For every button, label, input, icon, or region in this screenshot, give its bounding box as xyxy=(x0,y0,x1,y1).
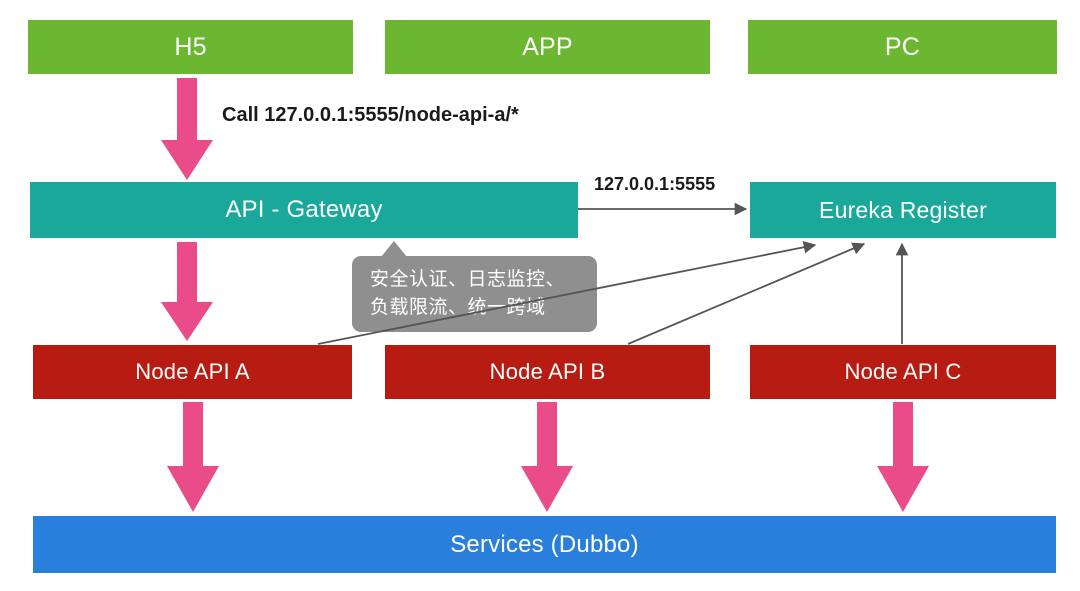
node-api-b-label: Node API B xyxy=(490,359,606,385)
arrow-node-api-b-to-services xyxy=(521,402,573,512)
node-api-a[interactable]: Node API A xyxy=(33,345,352,399)
registry-address-label: 127.0.0.1:5555 xyxy=(594,174,715,195)
services-dubbo-node[interactable]: Services (Dubbo) xyxy=(33,516,1056,573)
tooltip-pointer-icon xyxy=(381,241,407,257)
arrow-gateway-to-node-api-a xyxy=(161,242,213,341)
arrow-node-api-c-to-services xyxy=(877,402,929,512)
gateway-features-tooltip: 安全认证、日志监控、 负载限流、统一跨域 xyxy=(352,256,597,332)
eureka-register-label: Eureka Register xyxy=(819,197,987,224)
architecture-diagram: H5 APP PC API - Gateway Eureka Register … xyxy=(0,0,1080,591)
client-node-pc[interactable]: PC xyxy=(748,20,1057,74)
arrow-node-api-a-to-services xyxy=(167,402,219,512)
arrow-node-api-b-to-eureka xyxy=(628,244,864,344)
eureka-register-node[interactable]: Eureka Register xyxy=(750,182,1056,238)
tooltip-line-2: 负载限流、统一跨域 xyxy=(370,294,581,322)
api-gateway-node[interactable]: API - Gateway xyxy=(30,182,578,238)
client-node-app[interactable]: APP xyxy=(385,20,710,74)
tooltip-line-1: 安全认证、日志监控、 xyxy=(370,266,581,294)
client-node-h5-label: H5 xyxy=(174,33,206,62)
client-node-pc-label: PC xyxy=(885,33,920,62)
arrow-h5-to-gateway xyxy=(161,78,213,180)
api-gateway-label: API - Gateway xyxy=(225,196,382,224)
node-api-c-label: Node API C xyxy=(845,359,962,385)
node-api-a-label: Node API A xyxy=(135,359,250,385)
call-endpoint-label: Call 127.0.0.1:5555/node-api-a/* xyxy=(222,104,519,127)
node-api-c[interactable]: Node API C xyxy=(750,345,1056,399)
services-dubbo-label: Services (Dubbo) xyxy=(450,531,639,559)
client-node-h5[interactable]: H5 xyxy=(28,20,353,74)
client-node-app-label: APP xyxy=(522,33,573,62)
node-api-b[interactable]: Node API B xyxy=(385,345,710,399)
